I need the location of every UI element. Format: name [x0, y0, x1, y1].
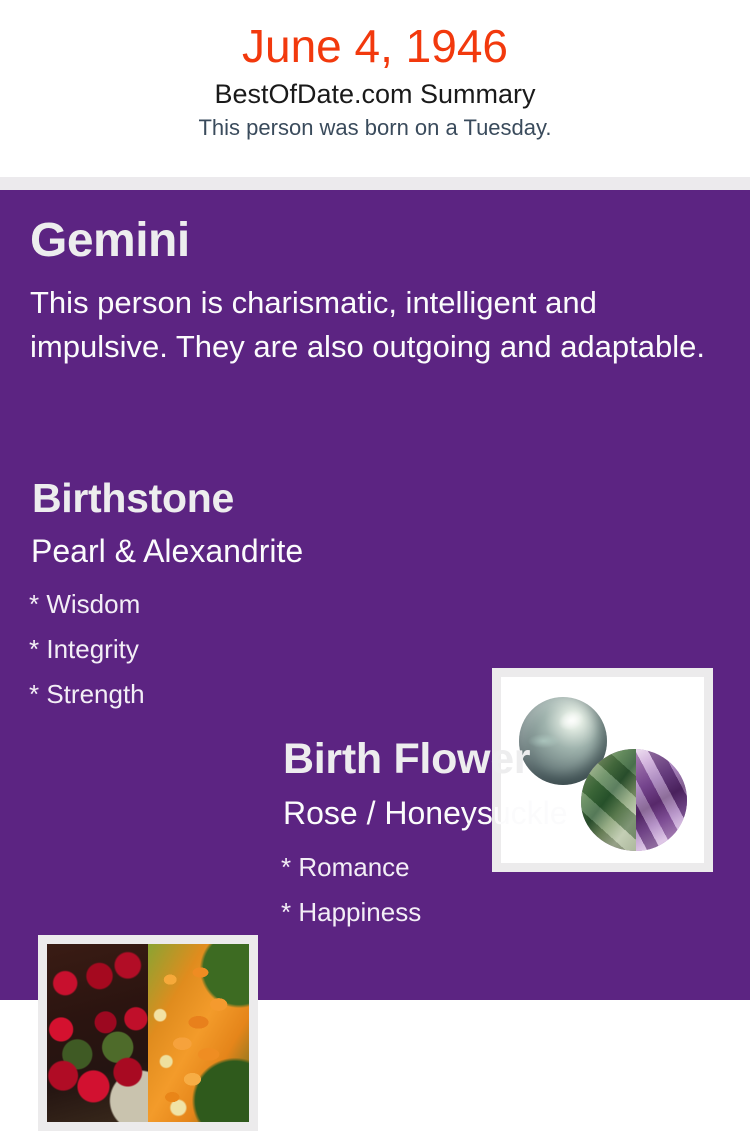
site-name: BestOfDate.com Summary: [0, 72, 750, 110]
red-roses-image-half: [47, 944, 148, 1122]
alexandrite-gem-icon: [581, 749, 687, 851]
page-title-date: June 4, 1946: [0, 0, 750, 72]
birthstone-trait-list: * Wisdom * Integrity * Strength: [29, 582, 145, 717]
summary-card: June 4, 1946 BestOfDate.com Summary This…: [0, 0, 750, 1000]
list-item: * Romance: [281, 845, 421, 890]
birth-flower-trait-list: * Romance * Happiness: [281, 845, 421, 935]
alexandrite-faceted-half: [636, 749, 687, 851]
header: June 4, 1946 BestOfDate.com Summary This…: [0, 0, 750, 177]
list-item: * Strength: [29, 672, 145, 717]
birthstone-photo: [501, 677, 704, 863]
honeysuckle-image-half: [148, 944, 249, 1122]
zodiac-sign-title: Gemini: [30, 217, 190, 265]
zodiac-description: This person is charismatic, intelligent …: [30, 281, 710, 369]
list-item: * Happiness: [281, 890, 421, 935]
alexandrite-rough-half: [581, 749, 636, 851]
details-panel: Gemini This person is charismatic, intel…: [0, 190, 750, 1000]
list-item: * Integrity: [29, 627, 145, 672]
birth-flower-photo-frame: [38, 935, 258, 1131]
birthstone-title: Birthstone: [32, 478, 234, 519]
birthstone-name: Pearl & Alexandrite: [31, 535, 303, 567]
birth-flower-photo: [47, 944, 249, 1122]
birth-flower-name: Rose / Honeysuckle: [283, 797, 568, 829]
birth-weekday-text: This person was born on a Tuesday.: [0, 109, 750, 140]
birth-flower-title: Birth Flower: [283, 738, 530, 781]
section-divider: [0, 177, 750, 190]
list-item: * Wisdom: [29, 582, 145, 627]
